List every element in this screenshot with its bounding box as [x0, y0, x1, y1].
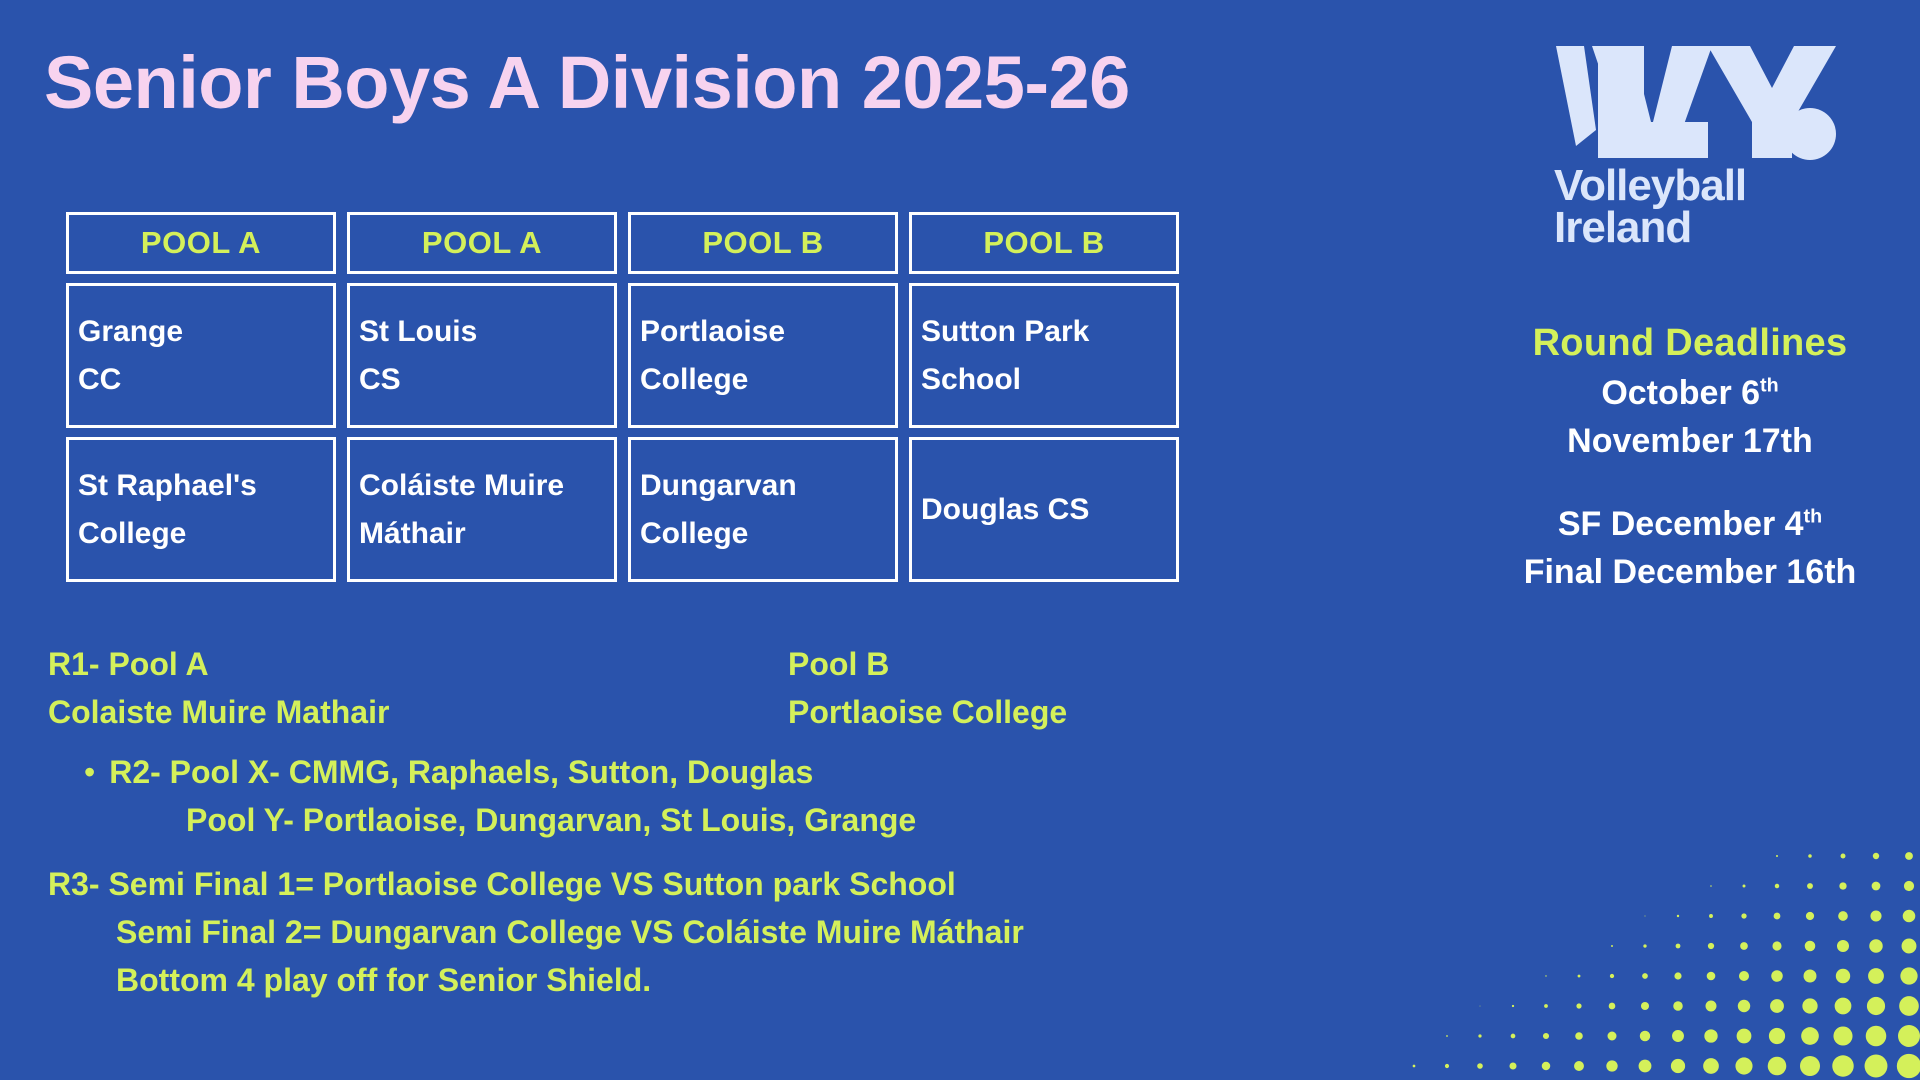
- round1-pool-b-label: Pool B: [788, 640, 889, 688]
- deadlines-spacer: [1460, 466, 1920, 500]
- round3-semifinal-2: Semi Final 2= Dungarvan College VS Colái…: [48, 908, 1408, 956]
- team-name-line-1: St Louis: [359, 308, 605, 356]
- round1-host-b-col: Portlaoise College: [788, 688, 1067, 736]
- round1-pool-a-label: R1- Pool A: [48, 640, 788, 688]
- round1-host-a-col: Colaiste Muire Mathair: [48, 688, 788, 736]
- pools-team-row-2: St Raphael's College Coláiste Muire Máth…: [66, 437, 1179, 582]
- pool-header-cell-4: POOL B: [909, 212, 1179, 274]
- pools-team-row-1: Grange CC St Louis CS Portlaoise College…: [66, 283, 1179, 428]
- team-name-line-1: Grange: [78, 308, 324, 356]
- team-name-line-2: CC: [78, 356, 324, 404]
- volleyball-ireland-logo: Volleyball Ireland: [1548, 34, 1848, 254]
- deadline-november: November 17th: [1460, 417, 1920, 465]
- round1-host-a: Colaiste Muire Mathair: [48, 688, 788, 736]
- team-cell: St Louis CS: [347, 283, 617, 428]
- team-name-line-2: School: [921, 356, 1167, 404]
- round2-pool-y: Pool Y- Portlaoise, Dungarvan, St Louis,…: [48, 796, 1408, 844]
- round3-semifinal-1: R3- Semi Final 1= Portlaoise College VS …: [48, 860, 1408, 908]
- senior-shield-note: Bottom 4 play off for Senior Shield.: [48, 956, 1408, 1004]
- ordinal-suffix: th: [1804, 505, 1823, 527]
- ordinal-suffix: th: [1760, 375, 1779, 397]
- round2-pool-x: R2- Pool X- CMMG, Raphaels, Sutton, Doug…: [109, 748, 813, 796]
- page-title: Senior Boys A Division 2025-26: [44, 46, 1130, 120]
- schedule-notes: R1- Pool A Pool B Colaiste Muire Mathair…: [48, 640, 1408, 1004]
- team-cell: Douglas CS: [909, 437, 1179, 582]
- halftone-dots-decoration: [1400, 840, 1920, 1080]
- team-cell: Dungarvan College: [628, 437, 898, 582]
- deadline-october-text: October 6: [1601, 374, 1760, 412]
- team-cell: St Raphael's College: [66, 437, 336, 582]
- pool-header-cell-2: POOL A: [347, 212, 617, 274]
- pools-header-row: POOL A POOL A POOL B POOL B: [66, 212, 1179, 274]
- team-name-line-1: Dungarvan: [640, 462, 886, 510]
- round1-host-b: Portlaoise College: [788, 688, 1067, 736]
- round1-pool-a-col: R1- Pool A: [48, 640, 788, 688]
- svg-text:Ireland: Ireland: [1554, 203, 1691, 252]
- deadline-final: Final December 16th: [1460, 548, 1920, 596]
- deadline-semifinal: SF December 4th: [1460, 500, 1920, 548]
- team-name-line-2: CS: [359, 356, 605, 404]
- round1-pool-b-col: Pool B: [788, 640, 889, 688]
- pool-header-cell-3: POOL B: [628, 212, 898, 274]
- pool-header-label: POOL B: [702, 225, 823, 261]
- team-name-line-2: Máthair: [359, 510, 605, 558]
- round-deadlines-panel: Round Deadlines October 6th November 17t…: [1460, 322, 1920, 596]
- team-name-line-1: St Raphael's: [78, 462, 324, 510]
- round2-bullet-item: • R2- Pool X- CMMG, Raphaels, Sutton, Do…: [48, 748, 1408, 796]
- team-name-line-2: College: [640, 356, 886, 404]
- deadline-semifinal-text: SF December 4: [1558, 505, 1804, 543]
- pools-table: POOL A POOL A POOL B POOL B Grange CC St…: [66, 212, 1179, 582]
- bullet-icon: •: [84, 748, 95, 796]
- team-name-line-1: Portlaoise: [640, 308, 886, 356]
- pool-header-label: POOL A: [141, 225, 261, 261]
- team-cell: Portlaoise College: [628, 283, 898, 428]
- team-cell: Coláiste Muire Máthair: [347, 437, 617, 582]
- team-cell: Sutton Park School: [909, 283, 1179, 428]
- pool-header-cell-1: POOL A: [66, 212, 336, 274]
- pool-header-label: POOL B: [983, 225, 1104, 261]
- team-name-line-1: Sutton Park: [921, 308, 1167, 356]
- deadline-october: October 6th: [1460, 369, 1920, 417]
- team-cell: Grange CC: [66, 283, 336, 428]
- round1-pools-row: R1- Pool A Pool B: [48, 640, 1408, 688]
- round-deadlines-title: Round Deadlines: [1460, 322, 1920, 365]
- team-name-line-2: College: [78, 510, 324, 558]
- team-name-line-1: Douglas CS: [921, 486, 1167, 534]
- pool-header-label: POOL A: [422, 225, 542, 261]
- team-name-line-1: Coláiste Muire: [359, 462, 605, 510]
- round1-hosts-row: Colaiste Muire Mathair Portlaoise Colleg…: [48, 688, 1408, 736]
- team-name-line-2: College: [640, 510, 886, 558]
